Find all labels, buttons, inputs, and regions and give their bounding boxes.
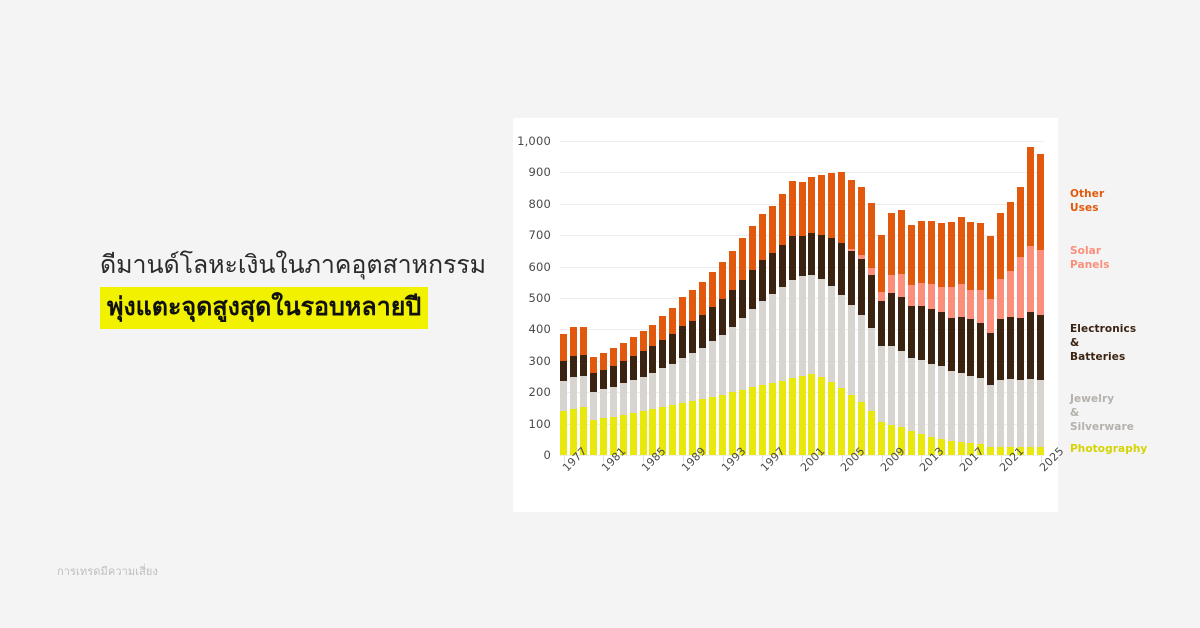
bar-segment (1037, 315, 1044, 380)
bar-1980[interactable] (590, 357, 597, 455)
bar-series-container (560, 141, 1044, 455)
bar-segment (948, 371, 955, 441)
bar-segment (1037, 447, 1044, 455)
bar-segment (928, 309, 935, 364)
bar-segment (928, 364, 935, 437)
bar-segment (987, 447, 994, 455)
bar-segment (640, 377, 647, 412)
bar-segment (689, 321, 696, 354)
bar-segment (759, 214, 766, 260)
legend-item[interactable]: Jewelry & Silverware (1070, 393, 1134, 435)
bar-segment (868, 328, 875, 411)
bar-1992[interactable] (709, 272, 716, 455)
bar-1988[interactable] (669, 308, 676, 455)
bar-segment (699, 282, 706, 315)
bar-segment (739, 318, 746, 390)
bar-1993[interactable] (719, 262, 726, 455)
y-axis-tick-label: 800 (528, 197, 551, 211)
bar-2021[interactable] (997, 213, 1004, 455)
bar-segment (967, 376, 974, 443)
bar-segment (749, 387, 756, 455)
bar-segment (699, 348, 706, 399)
bar-segment (719, 395, 726, 455)
bar-segment (818, 235, 825, 279)
bar-segment (958, 284, 965, 318)
bar-2018[interactable] (967, 222, 974, 455)
bar-segment (1027, 447, 1034, 455)
bar-2017[interactable] (958, 217, 965, 455)
bar-2001[interactable] (799, 182, 806, 455)
bar-segment (759, 301, 766, 385)
bar-2020[interactable] (987, 236, 994, 455)
bar-segment (749, 226, 756, 270)
legend-item[interactable]: Solar Panels (1070, 245, 1110, 273)
bar-segment (769, 294, 776, 384)
chart-panel: 01002003004005006007008009001,000 197719… (513, 118, 1058, 512)
bar-segment (630, 413, 637, 455)
bar-segment (908, 431, 915, 455)
y-axis-tick-label: 900 (528, 165, 551, 179)
bar-segment (769, 383, 776, 455)
bar-segment (828, 382, 835, 455)
bar-segment (938, 312, 945, 366)
bar-segment (898, 297, 905, 351)
bar-segment (689, 353, 696, 401)
bar-segment (560, 381, 567, 411)
bar-segment (1017, 187, 1024, 257)
bar-segment (868, 411, 875, 455)
bar-segment (818, 377, 825, 455)
bar-segment (838, 243, 845, 295)
bar-segment (848, 305, 855, 395)
bar-segment (858, 187, 865, 254)
bar-segment (739, 280, 746, 318)
bar-2012[interactable] (908, 225, 915, 455)
bar-2025[interactable] (1037, 154, 1044, 455)
y-axis-tick-label: 400 (528, 322, 551, 336)
bar-segment (938, 366, 945, 438)
bar-segment (977, 323, 984, 378)
bar-segment (967, 290, 974, 319)
bar-1987[interactable] (659, 316, 666, 455)
bar-segment (918, 306, 925, 360)
bar-segment (938, 287, 945, 313)
headline-line-2-wrapper: พุ่งแตะจุดสูงสุดในรอบหลายปี (100, 287, 480, 329)
bar-segment (610, 348, 617, 366)
bar-segment (799, 276, 806, 376)
bar-1985[interactable] (640, 331, 647, 455)
bar-segment (570, 327, 577, 357)
bar-segment (848, 395, 855, 455)
bar-segment (679, 326, 686, 358)
bar-segment (888, 293, 895, 346)
bar-segment (689, 290, 696, 321)
bar-2003[interactable] (818, 175, 825, 455)
bar-segment (649, 373, 656, 409)
bar-segment (878, 292, 885, 301)
legend-item[interactable]: Other Uses (1070, 188, 1104, 216)
bar-segment (908, 306, 915, 358)
bar-segment (977, 378, 984, 445)
headline-line-2-highlight: พุ่งแตะจุดสูงสุดในรอบหลายปี (100, 287, 428, 329)
bar-segment (818, 279, 825, 377)
bar-segment (888, 213, 895, 275)
bar-segment (640, 331, 647, 351)
bar-segment (560, 334, 567, 362)
bar-segment (789, 378, 796, 455)
bar-1997[interactable] (759, 214, 766, 455)
y-axis-tick-label: 0 (543, 448, 551, 462)
bar-2015[interactable] (938, 223, 945, 455)
bar-segment (679, 297, 686, 326)
legend-item[interactable]: Electronics & Batteries (1070, 323, 1136, 365)
bar-segment (958, 442, 965, 455)
bar-segment (719, 262, 726, 299)
bar-segment (779, 194, 786, 245)
bar-segment (808, 233, 815, 274)
bar-segment (1017, 318, 1024, 380)
bar-segment (679, 358, 686, 403)
bar-segment (749, 270, 756, 310)
bar-segment (987, 299, 994, 334)
bar-segment (1027, 312, 1034, 379)
bar-segment (958, 217, 965, 284)
bar-1991[interactable] (699, 282, 706, 455)
bar-segment (769, 253, 776, 293)
bar-segment (878, 235, 885, 292)
bar-segment (799, 376, 806, 455)
bar-segment (709, 397, 716, 455)
bar-segment (938, 223, 945, 287)
bar-segment (729, 290, 736, 327)
headline-line-1: ดีมานด์โลหะเงินในภาคอุตสาหกรรม (100, 248, 480, 281)
bar-segment (630, 337, 637, 356)
bar-2013[interactable] (918, 221, 925, 455)
bar-segment (977, 290, 984, 322)
bar-segment (580, 355, 587, 376)
bar-segment (997, 447, 1004, 455)
bar-segment (570, 356, 577, 377)
bar-segment (808, 374, 815, 455)
bar-segment (1017, 257, 1024, 318)
bar-segment (878, 346, 885, 423)
bar-segment (987, 236, 994, 298)
bar-segment (1027, 379, 1034, 447)
bar-segment (630, 380, 637, 413)
bar-1978[interactable] (570, 327, 577, 455)
bar-segment (908, 225, 915, 285)
bar-1981[interactable] (600, 353, 607, 455)
bar-segment (858, 315, 865, 402)
bar-segment (799, 236, 806, 276)
bar-2009[interactable] (878, 235, 885, 455)
bar-segment (1037, 154, 1044, 250)
bar-segment (610, 366, 617, 387)
bar-segment (987, 385, 994, 447)
bar-segment (918, 221, 925, 283)
bar-segment (808, 177, 815, 233)
bar-segment (729, 251, 736, 290)
bar-segment (1007, 202, 1014, 270)
bar-segment (600, 370, 607, 389)
bar-segment (570, 377, 577, 408)
bar-2024[interactable] (1027, 147, 1034, 455)
bar-2006[interactable] (848, 180, 855, 455)
bar-2023[interactable] (1017, 187, 1024, 455)
bar-segment (580, 376, 587, 407)
bar-1982[interactable] (610, 348, 617, 455)
bar-segment (868, 275, 875, 328)
y-axis-tick-label: 200 (528, 385, 551, 399)
bar-segment (719, 299, 726, 335)
bar-segment (958, 373, 965, 441)
bar-2007[interactable] (858, 187, 865, 455)
bar-segment (590, 357, 597, 373)
bar-segment (679, 403, 686, 455)
bar-segment (878, 301, 885, 346)
bar-2019[interactable] (977, 223, 984, 455)
bar-segment (590, 392, 597, 420)
bar-segment (928, 284, 935, 308)
bar-segment (789, 236, 796, 280)
bar-segment (918, 283, 925, 306)
bar-segment (958, 317, 965, 373)
bar-segment (948, 318, 955, 371)
bar-segment (888, 275, 895, 293)
legend-item[interactable]: Photography (1070, 443, 1147, 457)
bar-segment (1007, 271, 1014, 317)
bar-segment (888, 346, 895, 425)
bar-segment (838, 295, 845, 389)
bar-segment (987, 333, 994, 384)
bar-segment (799, 182, 806, 235)
bar-segment (838, 172, 845, 243)
bar-2014[interactable] (928, 221, 935, 455)
bar-segment (669, 405, 676, 455)
bar-segment (620, 343, 627, 361)
bar-segment (1007, 317, 1014, 380)
bar-segment (709, 307, 716, 342)
bar-segment (649, 346, 656, 372)
bar-segment (580, 327, 587, 355)
bar-segment (759, 385, 766, 455)
bar-segment (868, 203, 875, 268)
x-axis: 1977198119851989199319972001200520092013… (560, 455, 1044, 512)
bar-segment (878, 422, 885, 455)
bar-segment (848, 251, 855, 305)
bar-segment (977, 223, 984, 290)
bar-segment (898, 210, 905, 274)
bar-segment (640, 351, 647, 376)
bar-segment (1027, 147, 1034, 246)
bar-segment (908, 358, 915, 431)
bar-segment (997, 213, 1004, 280)
bar-1999[interactable] (779, 194, 786, 455)
bar-1984[interactable] (630, 337, 637, 455)
bar-1986[interactable] (649, 325, 656, 455)
bar-segment (729, 327, 736, 392)
y-axis-tick-label: 1,000 (517, 134, 551, 148)
bar-segment (560, 411, 567, 455)
bar-segment (590, 373, 597, 392)
bar-segment (928, 221, 935, 284)
bar-segment (789, 280, 796, 378)
bar-segment (818, 175, 825, 235)
bar-segment (739, 238, 746, 279)
bar-segment (600, 389, 607, 418)
bar-segment (669, 334, 676, 364)
bar-segment (560, 361, 567, 380)
bar-segment (997, 380, 1004, 447)
bar-1996[interactable] (749, 226, 756, 455)
headline-block: ดีมานด์โลหะเงินในภาคอุตสาหกรรม พุ่งแตะจุ… (100, 248, 480, 329)
bar-segment (948, 222, 955, 287)
bar-segment (699, 315, 706, 348)
bar-1994[interactable] (729, 251, 736, 455)
bar-segment (908, 285, 915, 306)
bar-segment (918, 434, 925, 455)
bar-segment (898, 351, 905, 428)
bar-segment (600, 418, 607, 455)
bar-1977[interactable] (560, 334, 567, 455)
bar-segment (590, 420, 597, 455)
bar-segment (640, 411, 647, 455)
bar-segment (630, 356, 637, 380)
bar-2002[interactable] (808, 177, 815, 455)
bar-1983[interactable] (620, 343, 627, 455)
bar-2010[interactable] (888, 213, 895, 455)
bar-1989[interactable] (679, 297, 686, 455)
y-axis-tick-label: 700 (528, 228, 551, 242)
bar-1979[interactable] (580, 327, 587, 455)
bar-segment (600, 353, 607, 370)
bar-segment (808, 275, 815, 374)
bar-segment (828, 286, 835, 382)
footer-disclaimer: การเทรดมีความเสี่ยง (57, 562, 158, 580)
bar-segment (997, 319, 1004, 381)
bar-1998[interactable] (769, 206, 776, 455)
bar-segment (1017, 380, 1024, 447)
bar-segment (967, 222, 974, 290)
bar-segment (948, 287, 955, 318)
bar-2011[interactable] (898, 210, 905, 455)
bar-segment (779, 245, 786, 286)
bar-segment (759, 260, 766, 301)
bar-segment (659, 316, 666, 340)
bar-segment (1027, 246, 1034, 313)
bar-segment (858, 255, 865, 259)
bar-segment (620, 361, 627, 383)
bar-segment (719, 335, 726, 395)
y-axis-tick-label: 500 (528, 291, 551, 305)
bar-segment (918, 360, 925, 435)
bar-segment (828, 173, 835, 238)
bar-segment (659, 368, 666, 407)
bar-segment (848, 180, 855, 249)
bar-segment (858, 259, 865, 315)
bar-2004[interactable] (828, 173, 835, 455)
bar-segment (649, 325, 656, 346)
bar-segment (1037, 250, 1044, 315)
y-axis-tick-label: 600 (528, 260, 551, 274)
bar-segment (948, 441, 955, 455)
bar-segment (1007, 379, 1014, 447)
bar-2008[interactable] (868, 203, 875, 455)
bar-segment (610, 387, 617, 417)
bar-1990[interactable] (689, 290, 696, 455)
bar-segment (838, 388, 845, 455)
bar-segment (779, 287, 786, 381)
bar-2022[interactable] (1007, 202, 1014, 455)
bar-segment (669, 364, 676, 405)
bar-2000[interactable] (789, 181, 796, 455)
y-axis-tick-label: 300 (528, 354, 551, 368)
bar-segment (659, 340, 666, 368)
bar-segment (967, 319, 974, 376)
bar-2005[interactable] (838, 172, 845, 455)
bar-segment (789, 181, 796, 236)
bar-segment (620, 383, 627, 414)
bar-segment (779, 381, 786, 455)
y-axis-tick-label: 100 (528, 417, 551, 431)
bar-segment (997, 279, 1004, 319)
bar-1995[interactable] (739, 238, 746, 455)
bar-segment (709, 272, 716, 307)
bar-segment (669, 308, 676, 334)
bar-segment (749, 309, 756, 387)
plot-area: 01002003004005006007008009001,000 (560, 141, 1044, 455)
bar-segment (729, 392, 736, 455)
bar-segment (709, 341, 716, 396)
bar-segment (828, 238, 835, 286)
bar-segment (898, 274, 905, 297)
bar-segment (769, 206, 776, 254)
bar-segment (848, 249, 855, 251)
bar-segment (868, 268, 875, 275)
bar-segment (1037, 380, 1044, 448)
bar-2016[interactable] (948, 222, 955, 455)
